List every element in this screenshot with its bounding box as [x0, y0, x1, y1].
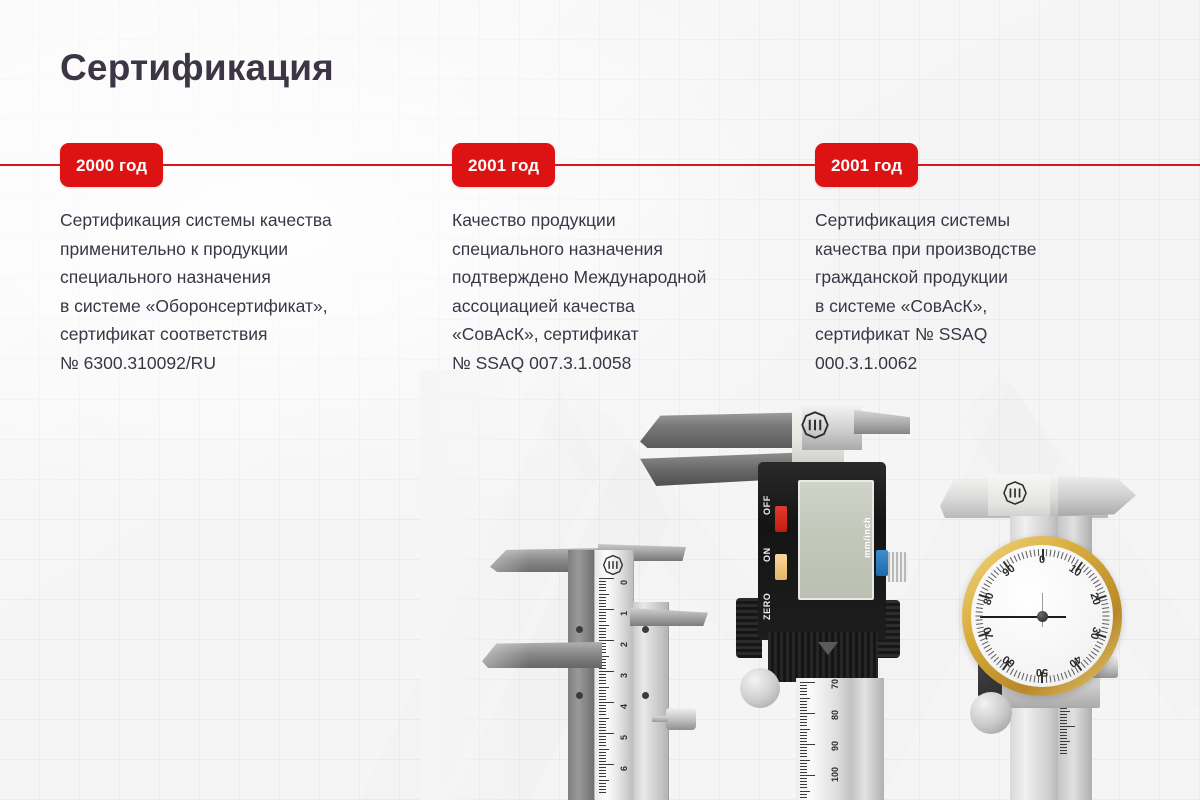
dial-tick — [1102, 611, 1109, 612]
ruler-number: 2 — [619, 642, 629, 647]
slide-certification: Сертификация 2000 год 2001 год 2001 год … — [0, 0, 1200, 800]
ruler-tick — [599, 749, 609, 750]
dial-caliper: 0102030405060708090 — [940, 440, 1200, 800]
dial-number: 0 — [1039, 554, 1045, 566]
dial-tick — [1014, 555, 1018, 562]
dial-tick — [1057, 674, 1060, 681]
ruler-tick — [800, 744, 815, 745]
ruler-tick — [599, 581, 606, 582]
certification-column: Качество продукции специального назначен… — [452, 206, 802, 377]
certification-text: Качество продукции специального назначен… — [452, 206, 802, 377]
dial-tick — [1101, 603, 1108, 605]
year-badge-label: 2001 год — [468, 157, 539, 174]
ruler-tick — [1060, 723, 1067, 724]
ruler-tick — [800, 732, 807, 733]
ruler-tick — [599, 714, 606, 715]
vernier-beam-dark — [568, 550, 594, 800]
ruler-tick — [599, 718, 609, 719]
dial-tick — [1057, 551, 1060, 558]
dial-tick — [1083, 659, 1089, 665]
ruler-tick — [599, 776, 606, 777]
ruler-tick — [800, 738, 807, 739]
ruler-tick — [599, 668, 606, 669]
dial-tick — [1017, 554, 1021, 561]
manufacturer-emblem-icon — [1002, 480, 1028, 506]
ruler-tick — [599, 758, 606, 759]
year-badge-2000[interactable]: 2000 год — [60, 143, 163, 187]
ruler-tick — [599, 590, 606, 591]
ruler-number: 0 — [619, 580, 629, 585]
ruler-tick — [800, 781, 807, 782]
dial-tick — [1034, 549, 1036, 556]
ruler-tick — [599, 783, 606, 784]
certification-text: Сертификация системы качества применител… — [60, 206, 440, 377]
ruler-number: 1 — [619, 611, 629, 616]
dial-tick — [1064, 554, 1068, 561]
ruler-tick — [800, 707, 807, 708]
ruler-tick — [800, 756, 807, 757]
ruler-tick — [800, 753, 807, 754]
dial-tick — [1017, 672, 1021, 679]
certification-text: Сертификация системы качества при произв… — [815, 206, 1165, 377]
ruler-tick — [599, 752, 606, 753]
ruler-tick — [599, 578, 614, 579]
ruler-tick — [599, 724, 606, 725]
ruler-number: 70 — [830, 679, 840, 689]
ruler-tick — [1060, 711, 1070, 712]
ruler-tick — [599, 742, 606, 743]
ruler-tick — [800, 698, 810, 699]
ruler-tick — [599, 761, 606, 762]
ruler-number: 90 — [830, 741, 840, 751]
ruler-number: 6 — [619, 766, 629, 771]
ruler-tick — [1060, 750, 1067, 751]
digital-grip-pad — [768, 632, 878, 682]
ruler-tick — [599, 789, 606, 790]
digital-caliper-body: OFF ON ZERO mm/inch — [758, 462, 886, 640]
dial-tick — [1097, 587, 1104, 591]
ruler-tick — [800, 691, 807, 692]
dial-thumb-roller[interactable] — [970, 692, 1012, 734]
ruler-tick — [599, 764, 614, 765]
ruler-tick — [1060, 735, 1067, 736]
ruler-tick — [800, 710, 807, 711]
ruler-tick — [599, 702, 614, 703]
off-button[interactable] — [775, 506, 787, 532]
dial-number: 50 — [1036, 666, 1048, 678]
dial-tick — [1025, 674, 1028, 681]
dial-face: 0102030405060708090 — [971, 545, 1113, 687]
ruler-tick — [599, 745, 606, 746]
ruler-tick — [800, 766, 807, 767]
year-badge-label: 2000 год — [76, 157, 147, 174]
ruler-tick — [599, 680, 606, 681]
ruler-tick — [599, 696, 606, 697]
on-zero-button[interactable] — [775, 554, 787, 580]
off-button-label: OFF — [762, 495, 772, 515]
ruler-tick — [800, 685, 807, 686]
ruler-number: 5 — [619, 735, 629, 740]
ruler-tick — [800, 741, 807, 742]
ruler-tick — [599, 699, 606, 700]
ruler-tick — [599, 721, 606, 722]
certification-column: Сертификация системы качества при произв… — [815, 206, 1165, 377]
dial-tick — [1050, 675, 1052, 682]
ruler-tick — [800, 713, 815, 714]
dial-tick — [1086, 657, 1092, 663]
ruler-tick — [599, 730, 606, 731]
ruler-tick — [599, 683, 606, 684]
ruler-tick — [599, 677, 606, 678]
ruler-tick — [800, 760, 810, 761]
certification-column: Сертификация системы качества применител… — [60, 206, 440, 377]
ruler-tick — [599, 600, 606, 601]
dial-hub — [1037, 611, 1048, 622]
digital-scale-beam-edge — [852, 678, 884, 800]
dial-tick — [1093, 648, 1099, 653]
dial-tick — [976, 611, 983, 612]
ruler-tick — [599, 628, 606, 629]
dial-tick — [1097, 641, 1104, 645]
dial-tick — [986, 580, 992, 585]
ruler-tick — [800, 797, 807, 798]
dial-tick — [984, 583, 991, 587]
ruler-tick — [1060, 753, 1067, 754]
vernier-scale: 0123456 — [599, 576, 633, 800]
dial-tick — [1053, 550, 1055, 557]
digital-scale: 708090100 — [800, 678, 850, 800]
year-badge-label: 2001 год — [831, 157, 902, 174]
ruler-tick — [599, 618, 606, 619]
vernier-screw — [576, 626, 583, 633]
dial-tick — [976, 623, 983, 625]
ruler-tick — [1060, 720, 1067, 721]
ruler-tick — [599, 634, 606, 635]
ruler-tick — [800, 787, 807, 788]
dial-tick — [1061, 673, 1064, 680]
dial-tick — [1102, 623, 1109, 625]
ruler-tick — [599, 615, 606, 616]
dial-tick — [976, 619, 983, 620]
ruler-tick — [1060, 729, 1067, 730]
page-title: Сертификация — [60, 47, 334, 89]
ruler-tick — [599, 693, 606, 694]
ruler-tick — [599, 727, 606, 728]
digital-scale-beam: 708090100 — [796, 678, 854, 800]
dial-tick — [1053, 675, 1055, 682]
ruler-tick — [800, 682, 815, 683]
vernier-screw — [576, 692, 583, 699]
ruler-tick — [599, 792, 606, 793]
manufacturer-emblem-icon — [800, 410, 830, 440]
ruler-tick — [599, 609, 614, 610]
ruler-tick — [800, 719, 807, 720]
dial-tick — [1064, 672, 1068, 679]
ruler-tick — [800, 735, 807, 736]
dial-tick — [1021, 552, 1024, 559]
ruler-tick — [800, 784, 807, 785]
grip-arrow-icon — [818, 642, 838, 655]
dial-tick — [1102, 607, 1109, 609]
dial-tick — [976, 616, 983, 617]
ruler-tick — [599, 587, 606, 588]
ruler-tick — [599, 621, 606, 622]
ruler-tick — [599, 773, 606, 774]
ruler-tick — [1060, 717, 1067, 718]
ruler-tick — [800, 775, 815, 776]
dial-tick — [1014, 670, 1018, 677]
ruler-tick — [599, 780, 609, 781]
dial-tick — [976, 607, 983, 609]
ruler-tick — [800, 704, 807, 705]
timeline-badges: 2000 год 2001 год 2001 год — [0, 143, 1200, 187]
ruler-tick — [800, 772, 807, 773]
ruler-tick — [800, 701, 807, 702]
ruler-tick — [800, 725, 807, 726]
ruler-tick — [599, 767, 606, 768]
digital-caliper: OFF ON ZERO mm/inch 708090100 — [640, 400, 900, 800]
ruler-tick — [599, 606, 606, 607]
ruler-tick — [800, 750, 807, 751]
ruler-tick — [599, 597, 606, 598]
ruler-tick — [800, 763, 807, 764]
ruler-tick — [800, 794, 807, 795]
ruler-tick — [599, 584, 606, 585]
ruler-tick — [800, 694, 807, 695]
dial-tick — [1021, 673, 1024, 680]
ruler-tick — [1060, 738, 1067, 739]
digital-knob — [740, 668, 780, 708]
ruler-tick — [800, 791, 810, 792]
dial-bezel: 0102030405060708090 — [962, 536, 1122, 696]
ruler-tick — [599, 625, 609, 626]
vernier-lower-jaw — [482, 642, 602, 668]
dial-tick — [1095, 644, 1102, 648]
ruler-tick — [800, 716, 807, 717]
calipers-photo: 0123456 — [0, 370, 1200, 800]
digital-thumbwheel[interactable] — [886, 552, 908, 582]
ruler-tick — [599, 637, 606, 638]
dial-tick — [1029, 675, 1031, 682]
zero-button-label: ZERO — [762, 593, 772, 620]
ruler-tick — [599, 755, 606, 756]
ruler-tick — [599, 640, 614, 641]
on-button-label: ON — [762, 547, 772, 562]
ruler-tick — [599, 733, 614, 734]
ruler-tick — [599, 671, 614, 672]
dial-tick — [1061, 552, 1064, 559]
dial-tick — [988, 576, 994, 581]
ruler-tick — [599, 711, 606, 712]
ruler-tick — [599, 690, 606, 691]
ruler-tick — [599, 631, 606, 632]
ruler-tick — [1060, 732, 1067, 733]
dial-tick — [1025, 551, 1028, 558]
digital-jaw-blade-tip — [854, 410, 910, 434]
ruler-tick — [599, 739, 606, 740]
ruler-tick — [599, 687, 609, 688]
ruler-tick — [800, 722, 807, 723]
ruler-tick — [1060, 744, 1067, 745]
ruler-number: 4 — [619, 704, 629, 709]
dial-tick — [1103, 616, 1110, 617]
ruler-tick — [1060, 747, 1067, 748]
dial-tick — [1029, 550, 1031, 557]
ruler-tick — [599, 708, 606, 709]
dial-tick — [1046, 549, 1047, 556]
mm-inch-button-label: mm/inch — [862, 517, 872, 558]
manufacturer-emblem-icon — [602, 554, 624, 576]
ruler-tick — [599, 674, 606, 675]
ruler-tick — [1060, 726, 1075, 727]
ruler-tick — [599, 594, 609, 595]
dial-tick — [1068, 670, 1072, 677]
ruler-tick — [599, 705, 606, 706]
ruler-tick — [599, 736, 606, 737]
dial-tick — [1050, 549, 1052, 556]
ruler-tick — [599, 770, 606, 771]
ruler-tick — [1060, 741, 1070, 742]
year-badge-2001-b[interactable]: 2001 год — [815, 143, 918, 187]
ruler-tick — [599, 603, 606, 604]
year-badge-2001-a[interactable]: 2001 год — [452, 143, 555, 187]
ruler-tick — [1060, 714, 1067, 715]
ruler-tick — [599, 786, 606, 787]
dial-number: 90 — [1001, 562, 1018, 579]
mm-inch-button[interactable] — [876, 550, 888, 576]
ruler-tick — [1060, 708, 1067, 709]
ruler-number: 100 — [830, 767, 840, 782]
ruler-tick — [599, 612, 606, 613]
dial-tick — [1102, 619, 1109, 620]
ruler-tick — [800, 688, 807, 689]
ruler-tick — [800, 729, 810, 730]
ruler-number: 80 — [830, 710, 840, 720]
ruler-tick — [800, 747, 807, 748]
dial-needle — [980, 616, 1042, 618]
ruler-tick — [800, 778, 807, 779]
ruler-tick — [800, 769, 807, 770]
dial-jaw-tip — [1058, 476, 1136, 516]
ruler-number: 3 — [619, 673, 629, 678]
vernier-beam: 0123456 — [594, 550, 634, 800]
